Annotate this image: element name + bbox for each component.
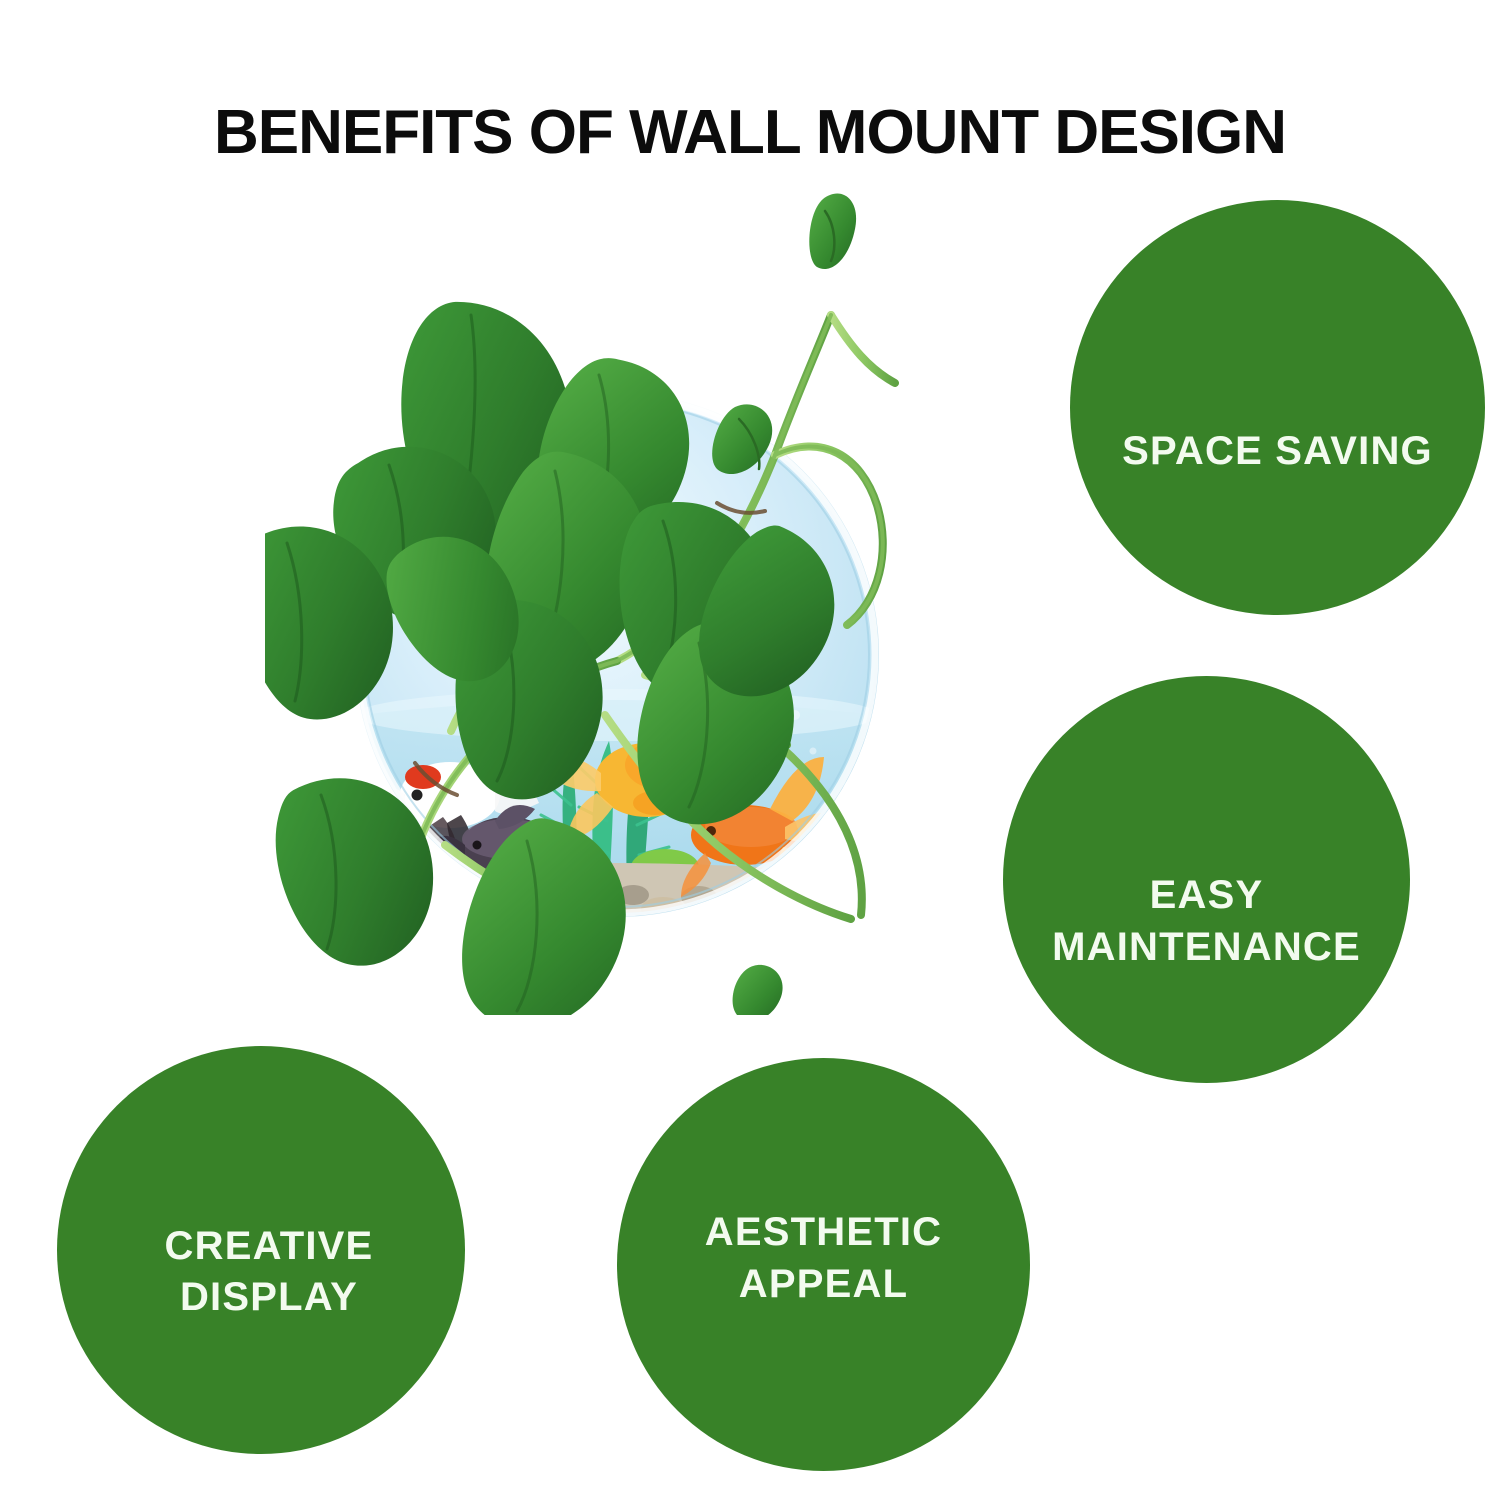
pothos-plant <box>265 194 895 1015</box>
vine-bud <box>733 965 783 1015</box>
product-image <box>265 155 955 1015</box>
benefit-circle-easy-maintenance[interactable]: EASY MAINTENANCE <box>1003 676 1410 1083</box>
benefit-label-creative-display: CREATIVE DISPLAY <box>165 1221 374 1323</box>
infographic-page: BENEFITS OF WALL MOUNT DESIGN <box>0 0 1500 1500</box>
benefit-label-easy-maintenance: EASY MAINTENANCE <box>1052 870 1361 972</box>
benefit-circle-space-saving[interactable]: SPACE SAVING <box>1070 200 1485 615</box>
benefit-label-aesthetic-appeal: AESTHETIC APPEAL <box>705 1207 942 1309</box>
benefit-label-space-saving: SPACE SAVING <box>1122 426 1433 477</box>
benefit-circle-aesthetic-appeal[interactable]: AESTHETIC APPEAL <box>617 1058 1030 1471</box>
vine-bud <box>809 194 856 270</box>
benefit-circle-creative-display[interactable]: CREATIVE DISPLAY <box>57 1046 465 1454</box>
